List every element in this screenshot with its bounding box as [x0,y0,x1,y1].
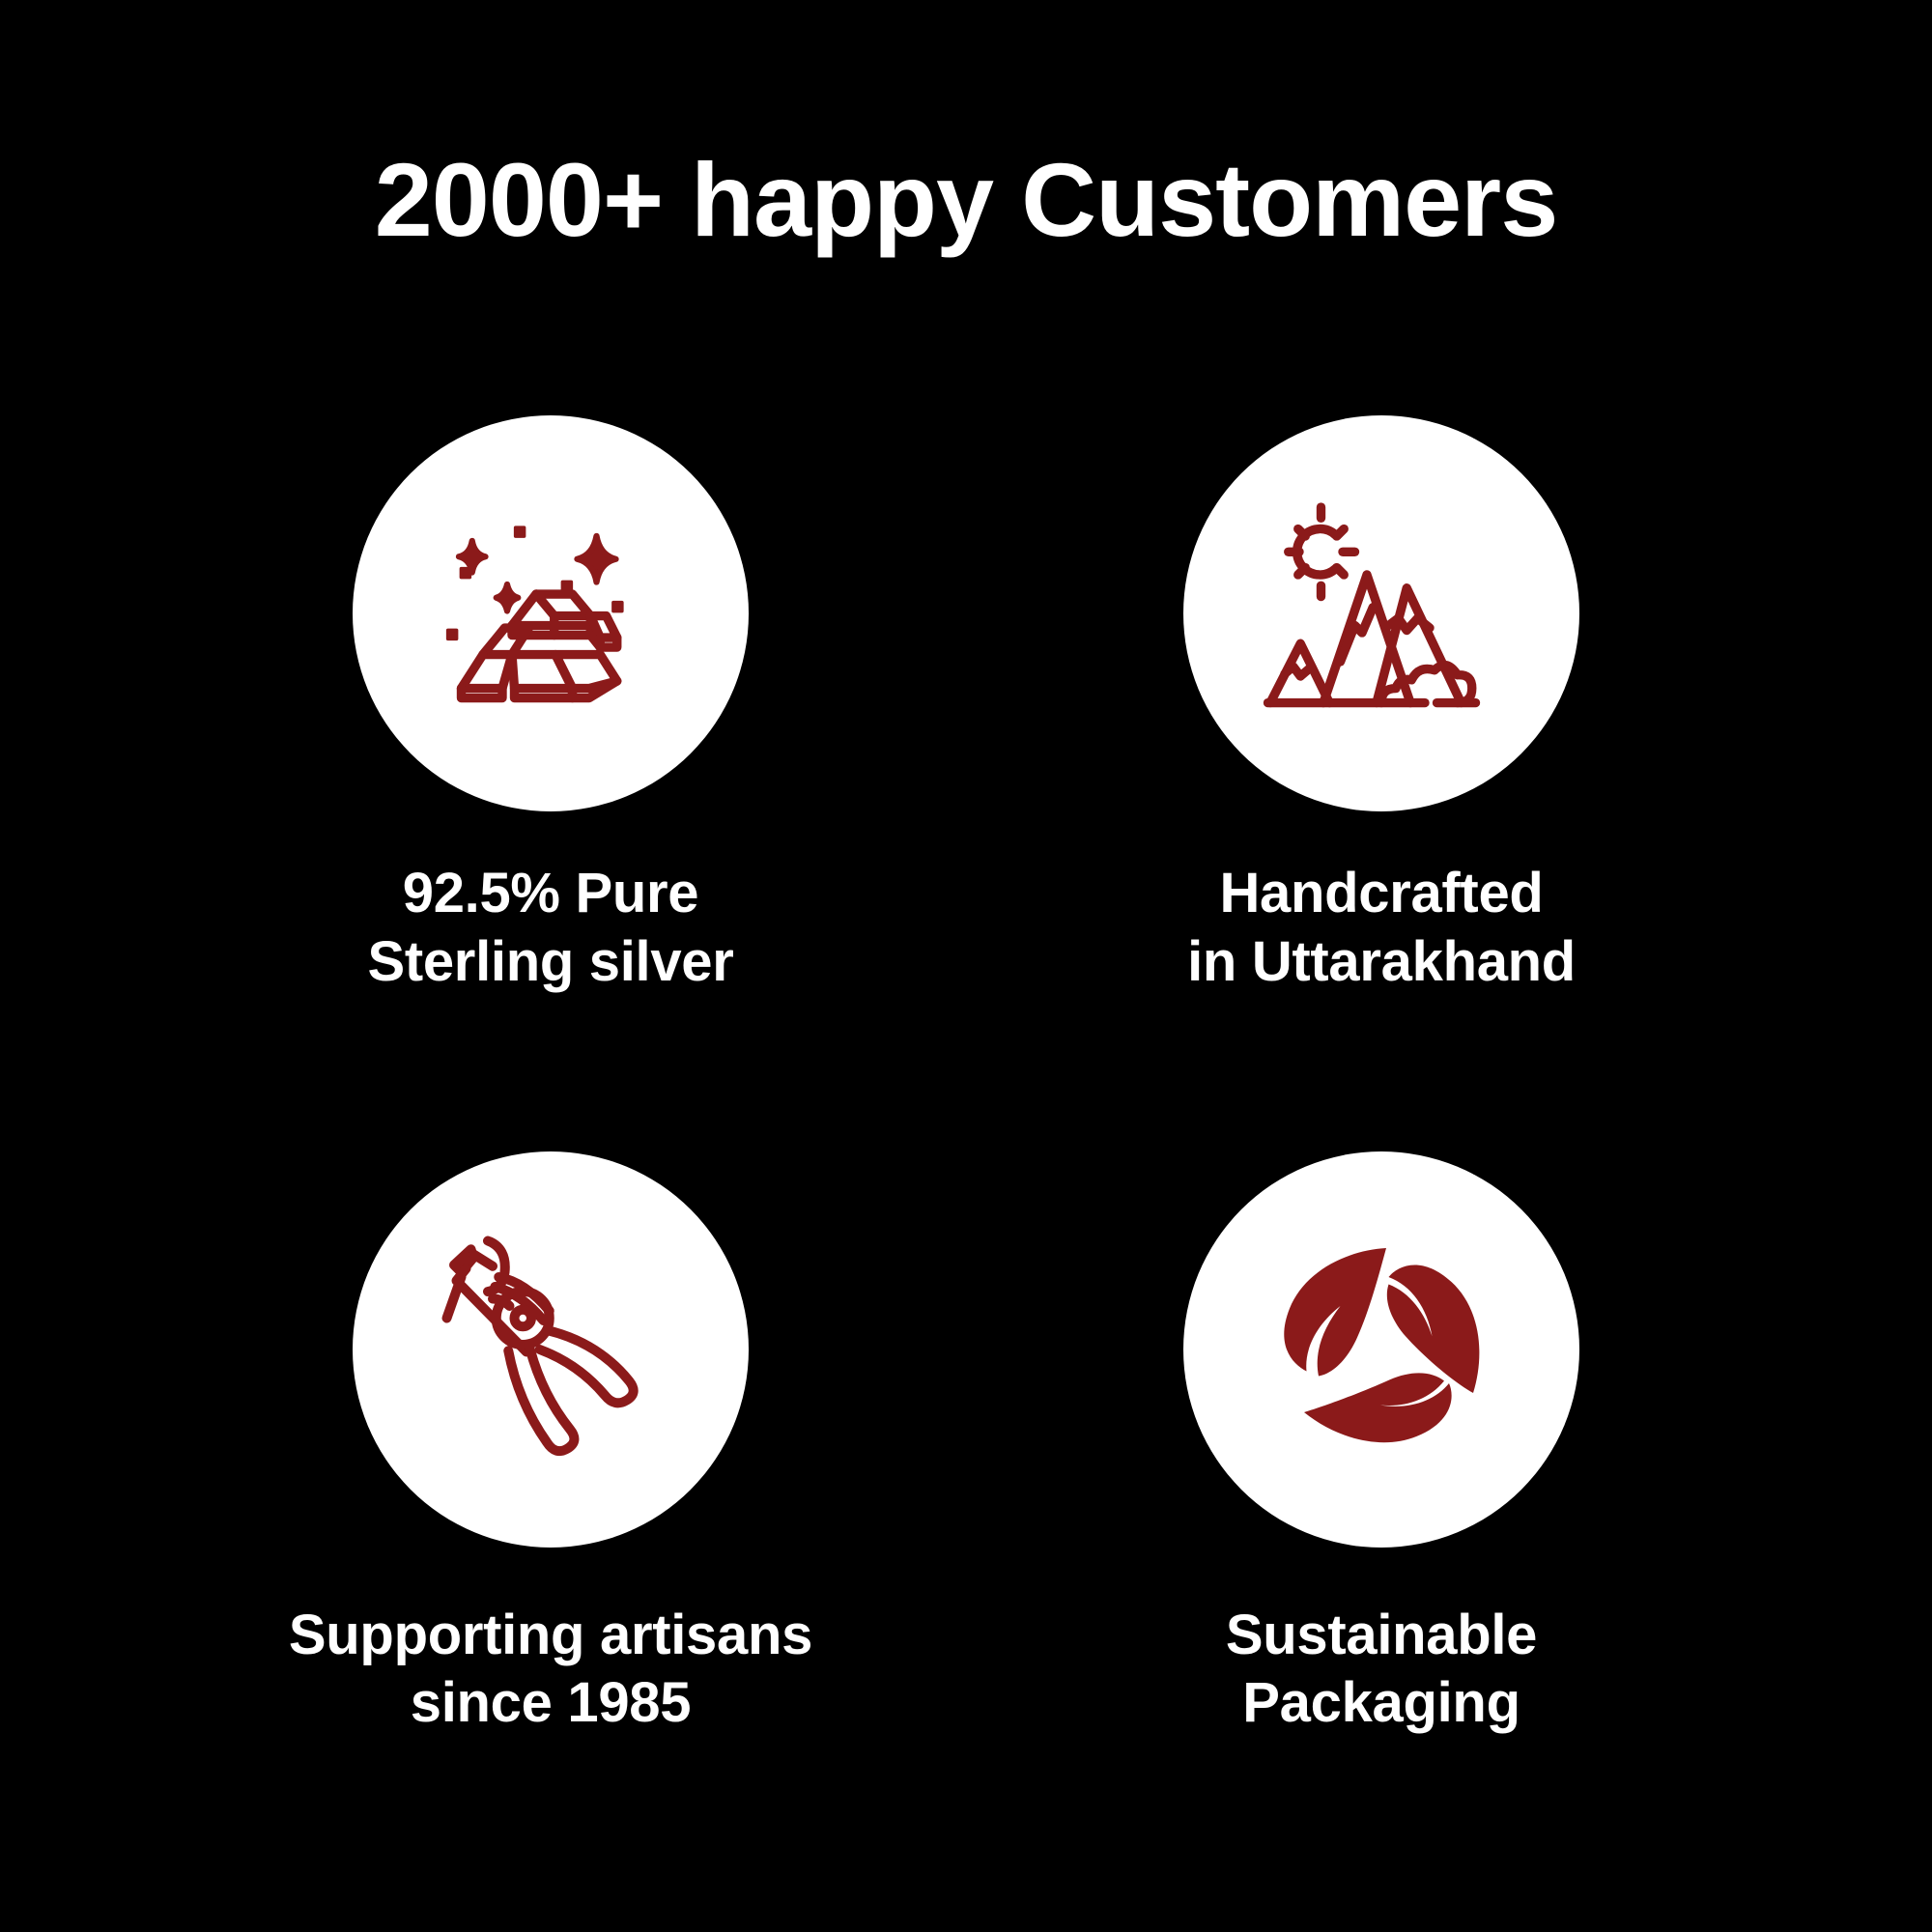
feature-item-artisans: Supporting artisans since 1985 [222,1151,879,1739]
three-leaves-recycle-icon [1261,1229,1502,1470]
icon-badge-packaging [1183,1151,1579,1548]
feature-label-artisans: Supporting artisans since 1985 [289,1602,812,1739]
feature-label-handcrafted: Handcrafted in Uttarakhand [1187,860,1576,997]
icon-badge-handcrafted [1183,415,1579,811]
feature-item-handcrafted: Handcrafted in Uttarakhand [1053,415,1710,997]
page-title: 2000+ happy Customers [0,145,1932,254]
promo-banner: 2000+ happy Customers [0,0,1932,1932]
feature-item-sterling-silver: 92.5% Pure Sterling silver [222,415,879,997]
icon-badge-sterling-silver [353,415,749,811]
mountains-sun-icon [1261,493,1502,734]
silver-bars-sparkle-icon [430,493,671,734]
feature-label-sterling-silver: 92.5% Pure Sterling silver [367,860,733,997]
feature-grid: 92.5% Pure Sterling silver [222,415,1710,1738]
feature-label-packaging: Sustainable Packaging [1226,1602,1537,1739]
jewelry-pliers-icon [430,1229,671,1470]
feature-item-packaging: Sustainable Packaging [1053,1151,1710,1739]
icon-badge-artisans [353,1151,749,1548]
